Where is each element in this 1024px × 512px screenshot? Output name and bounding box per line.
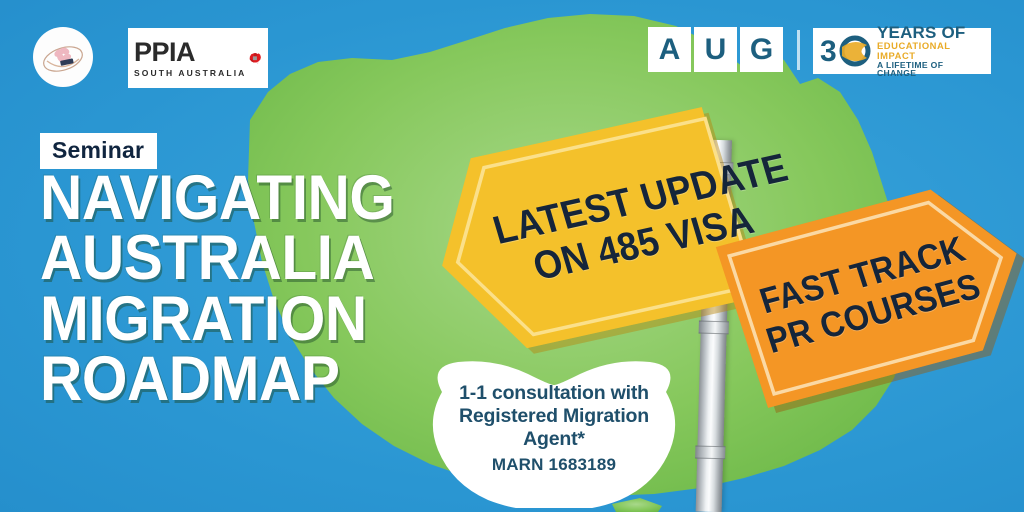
headline-line-4: ROADMAP [40, 349, 440, 409]
aug-letter-g: G [740, 27, 783, 72]
ppia-name: PPIA [134, 39, 246, 66]
pole-band [699, 321, 729, 335]
logo-divider [797, 30, 800, 70]
thirty-mark-icon: 3 [820, 34, 872, 68]
svg-text:3: 3 [820, 35, 837, 68]
anniversary-years: YEARS OF [877, 24, 984, 41]
aug-letter-u: U [694, 27, 737, 72]
consultation-line-3: Agent* [424, 428, 684, 451]
marn-number: MARN 1683189 [424, 455, 684, 475]
consultation-line-1: 1-1 consultation with [424, 382, 684, 405]
headline-line-2: AUSTRALIA [40, 228, 440, 288]
anniversary-subtagline: A LIFETIME OF CHANGE [877, 61, 984, 79]
headline-line-1: NAVIGATING [40, 168, 440, 228]
consultation-text: 1-1 consultation with Registered Migrati… [424, 382, 684, 475]
aug-letter-a: A [648, 27, 691, 72]
consultation-callout: 1-1 consultation with Registered Migrati… [424, 358, 684, 508]
aug-logo: A U G [648, 27, 783, 72]
page-title: NAVIGATING AUSTRALIA MIGRATION ROADMAP [40, 168, 470, 410]
30-years-logo: 3 YEARS OF EDUCATIONAL IMPACT A LIFETIME… [813, 28, 991, 74]
pole-band [695, 445, 725, 459]
consultation-line-2: Registered Migration [424, 405, 684, 428]
ppia-logo: PPIA SOUTH AUSTRALIA [128, 28, 268, 88]
ppia-state: SOUTH AUSTRALIA [134, 69, 246, 78]
organisation-emblem [33, 27, 93, 87]
promo-banner: PPIA SOUTH AUSTRALIA A U G 3 YEARS OF ED… [0, 0, 1024, 512]
anniversary-tagline: EDUCATIONAL IMPACT [877, 41, 984, 60]
emblem-icon [41, 37, 85, 77]
australia-map-icon [248, 34, 262, 82]
headline-line-3: MIGRATION [40, 289, 440, 349]
